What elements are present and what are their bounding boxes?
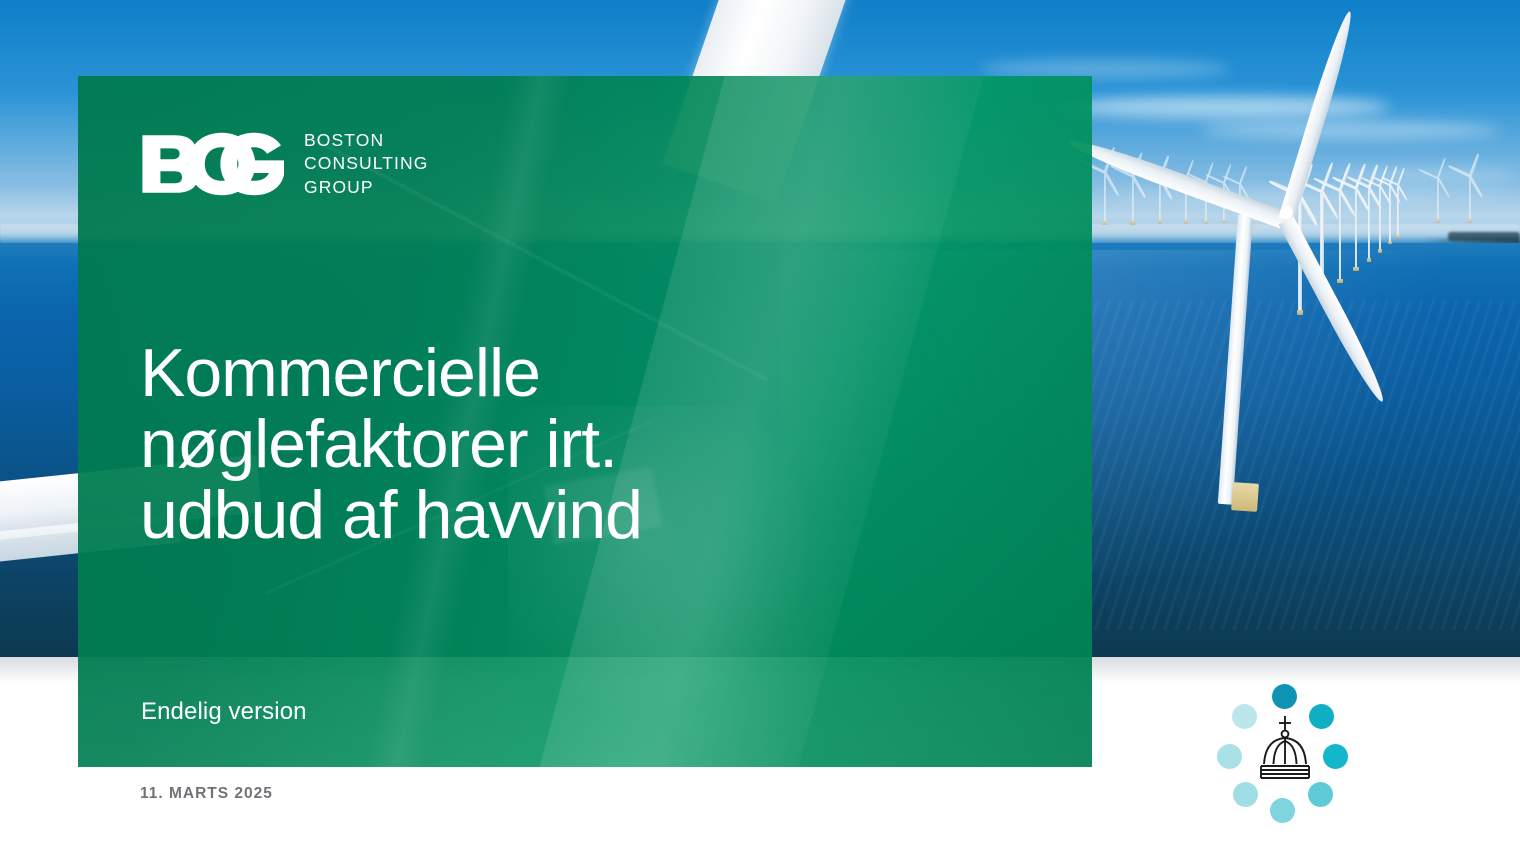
turbine-blade: [1104, 171, 1120, 196]
logo-word-line-1: BOSTON: [304, 129, 428, 152]
logo-word-line-3: GROUP: [304, 176, 428, 199]
turbine-hub: [1280, 206, 1293, 219]
wind-turbine: [1240, 184, 1241, 185]
turbine-foundation: [1130, 221, 1135, 225]
turbine-foundation: [1222, 220, 1226, 223]
turbine-foundation: [1102, 221, 1107, 225]
turbine-foundation: [1436, 219, 1440, 222]
title-line-2: nøglefaktorer irt.: [140, 409, 900, 480]
page-title: Kommercielle nøglefaktorer irt. udbud af…: [140, 338, 900, 551]
turbine-mast: [1469, 176, 1471, 222]
wind-turbine: [1398, 185, 1399, 186]
cloud: [1100, 190, 1520, 202]
presentation-title-slide: BOSTON CONSULTING GROUP Kommercielle nøg…: [0, 0, 1520, 855]
wind-turbine: [1340, 190, 1341, 191]
title-line-3: udbud af havvind: [140, 480, 900, 551]
wind-turbine: [1133, 176, 1134, 177]
crown-icon: [1250, 714, 1320, 786]
dot-left: [1217, 744, 1242, 769]
turbine-blade: [1067, 134, 1289, 230]
logo-word-line-2: CONSULTING: [304, 152, 428, 175]
bcg-wordmark: BOSTON CONSULTING GROUP: [304, 129, 428, 199]
turbine-foundation: [1378, 249, 1382, 252]
wind-turbine: [1470, 176, 1471, 177]
turbine-foundation: [1158, 220, 1163, 224]
turbine-foundation: [1184, 220, 1188, 223]
wind-turbine: [1105, 172, 1106, 173]
dot-bottom: [1270, 798, 1295, 823]
turbine-foundation: [1337, 279, 1343, 283]
turbine-mast: [1437, 178, 1439, 222]
turbine-mast: [1339, 190, 1342, 282]
turbine-foundation: [1231, 482, 1259, 512]
turbine-mast: [1397, 185, 1399, 237]
wind-turbine: [1369, 187, 1370, 188]
dot-right: [1323, 744, 1348, 769]
turbine-foundation: [1204, 221, 1208, 224]
slide-date: 11. MARTS 2025: [140, 785, 273, 803]
wind-turbine: [1224, 183, 1225, 184]
turbine-mast: [1355, 188, 1358, 270]
wind-turbine: [1322, 192, 1323, 193]
turbine-foundation: [1468, 219, 1473, 223]
turbine-mast: [1104, 172, 1107, 224]
subtitle-version: Endelig version: [141, 698, 307, 726]
wind-turbine: [1356, 188, 1357, 189]
danish-government-crown-logo: [1212, 678, 1357, 823]
turbine-mast: [1379, 186, 1381, 252]
turbine-foundation: [1367, 258, 1372, 262]
wind-turbine: [1390, 185, 1391, 186]
cloud: [1060, 96, 1390, 118]
turbine-mast: [1132, 176, 1135, 224]
turbine-foundation: [1396, 235, 1400, 238]
turbine-foundation: [1353, 267, 1358, 271]
turbine-foundation: [1297, 310, 1304, 315]
bcg-monogram-icon: [140, 128, 284, 200]
bcg-logo: BOSTON CONSULTING GROUP: [140, 128, 428, 200]
title-line-1: Kommercielle: [140, 338, 900, 409]
wind-turbine: [1438, 178, 1439, 179]
cloud: [1200, 122, 1500, 138]
wind-turbine: [1380, 186, 1381, 187]
turbine-mast: [1368, 187, 1370, 261]
turbine-mast: [1389, 185, 1391, 243]
turbine-blade: [1239, 166, 1247, 184]
dot-top: [1272, 684, 1297, 709]
turbine-foundation: [1388, 241, 1392, 244]
